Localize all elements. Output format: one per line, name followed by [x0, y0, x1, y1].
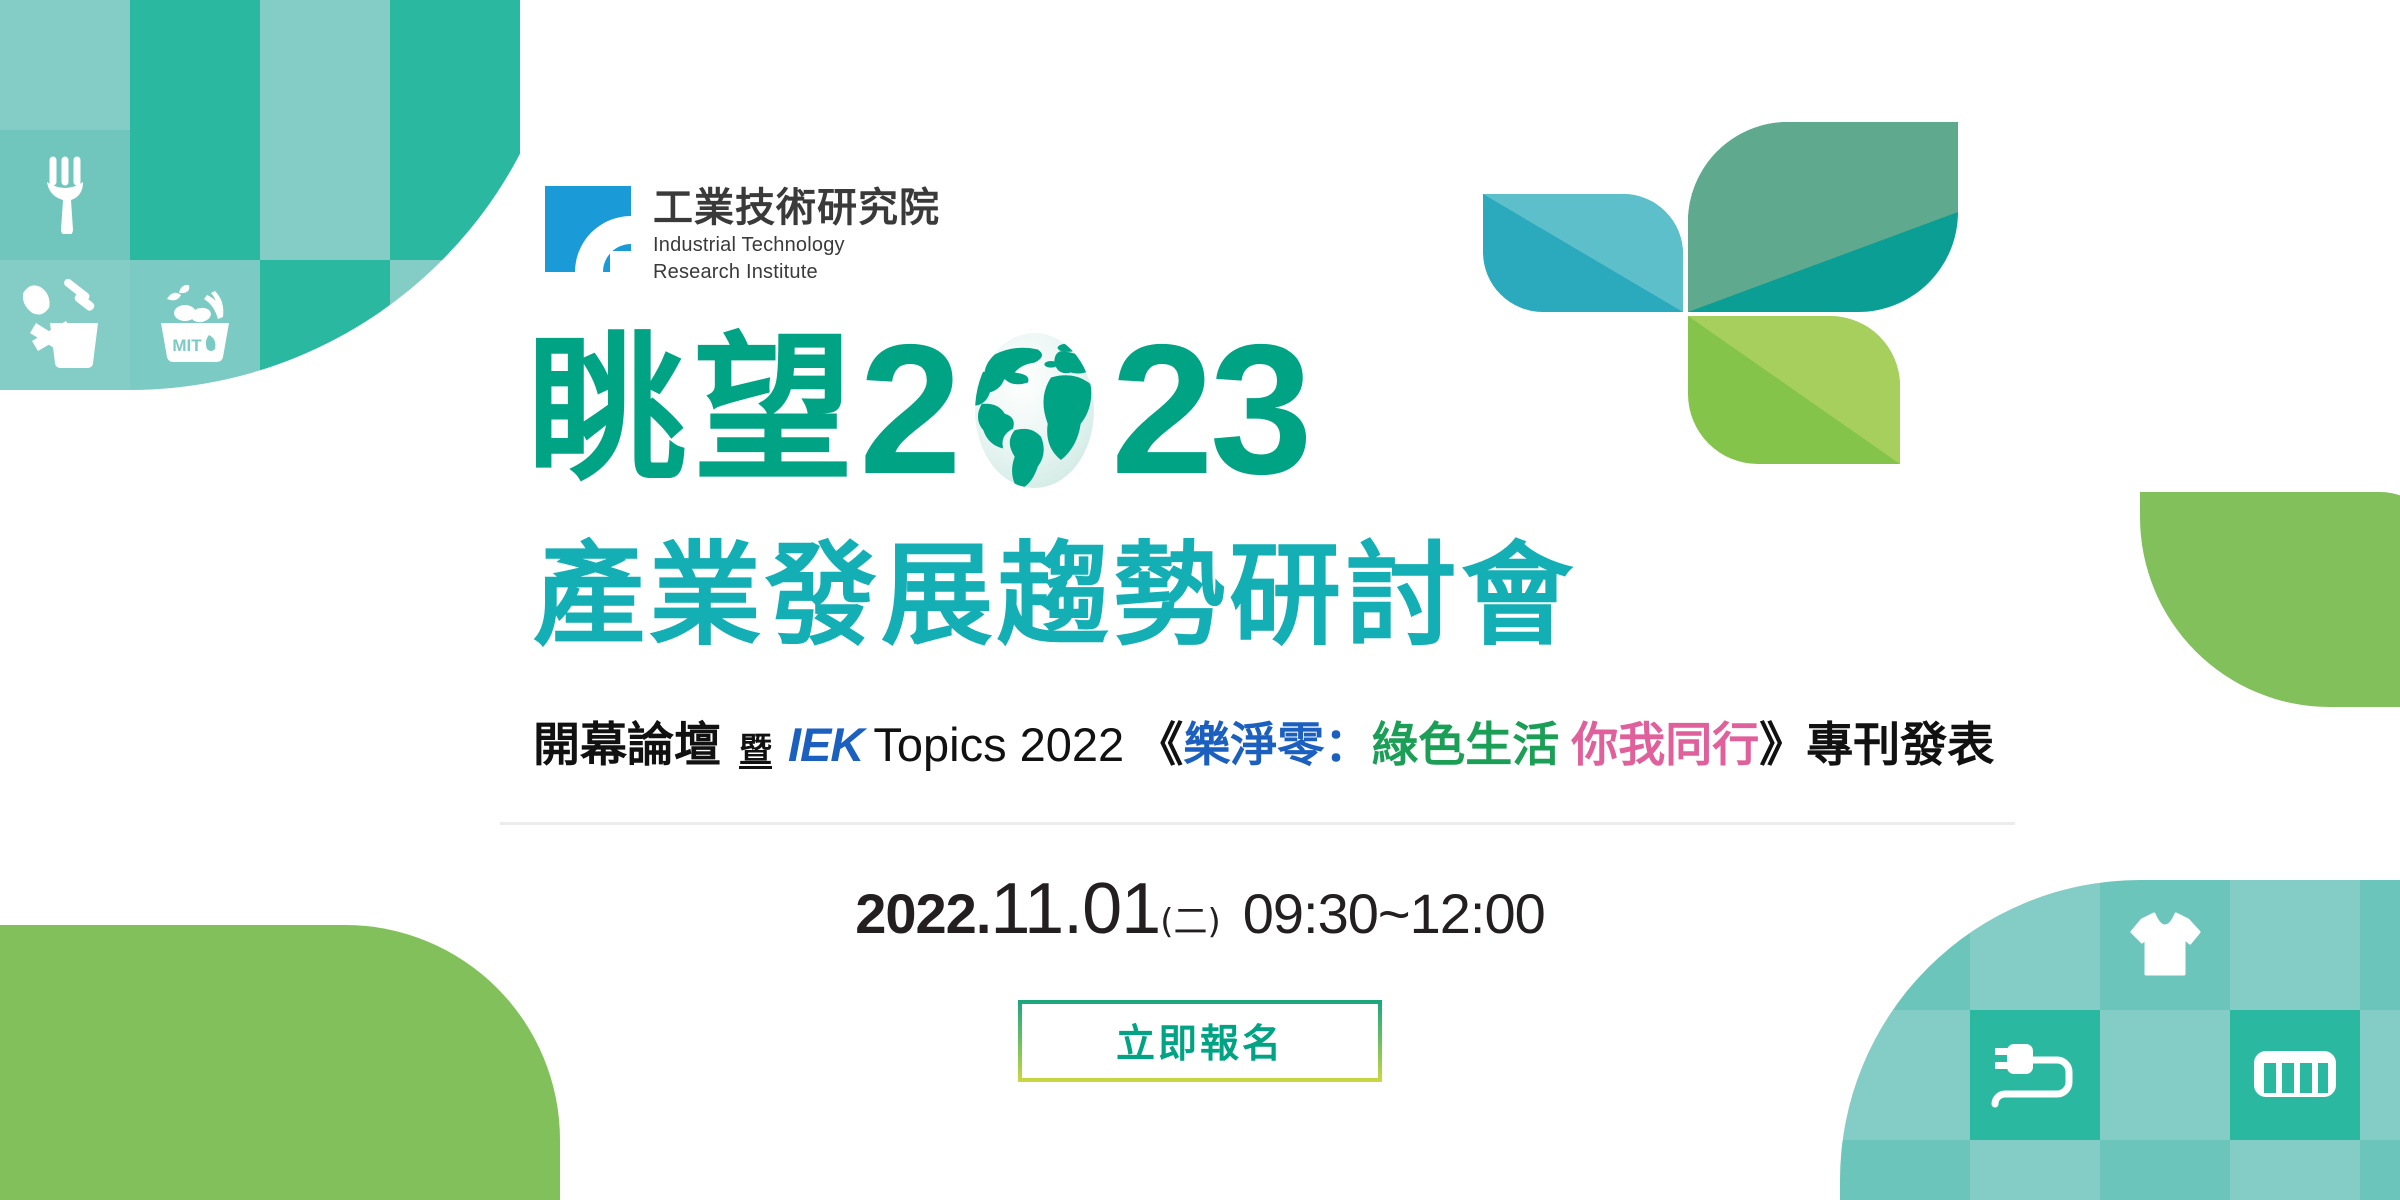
itri-name-cn: 工業技術研究院 [653, 188, 940, 230]
globe-icon [952, 328, 1117, 493]
cta-container: 立即報名 [0, 1000, 2400, 1082]
itri-logo-icon [545, 186, 631, 272]
itri-name-en-line2: Research Institute [653, 260, 940, 285]
headline-year-suffix: 23 [1111, 318, 1309, 503]
event-banner: MIT [0, 0, 2400, 1200]
register-button[interactable]: 立即報名 [1018, 1000, 1382, 1082]
subtitle-bracket-open: 《 [1136, 706, 1183, 775]
headline-cjk: 眺望 [527, 330, 859, 490]
subtitle-line: 開幕論壇 暨 IEK Topics 2022 《 樂淨零： 綠色生活 你我同行 … [533, 706, 1994, 775]
register-button-label: 立即報名 [1116, 1013, 1284, 1069]
register-button-inner[interactable]: 立即報名 [1022, 1004, 1378, 1078]
subtitle-iek: IEK [788, 717, 863, 772]
subtitle-forum: 開幕論壇 [533, 706, 721, 775]
subtitle-topics: Topics 2022 [873, 717, 1124, 772]
event-weekday: (二) [1160, 894, 1221, 943]
event-datetime: 2022. 11.01 (二) 09:30~12:00 [0, 868, 2400, 950]
event-time: 09:30~12:00 [1243, 881, 1545, 946]
subtitle-green-text: 綠色生活 [1371, 706, 1559, 775]
headline-year: 2 [859, 318, 1309, 503]
subtitle-bracket-close: 》 [1759, 706, 1806, 775]
subtitle-pink-text: 你我同行 [1571, 706, 1759, 775]
subtitle-tail: 專刊發表 [1806, 706, 1994, 775]
itri-logo: 工業技術研究院 Industrial Technology Research I… [545, 186, 940, 285]
banner-content: 工業技術研究院 Industrial Technology Research I… [0, 0, 2400, 1200]
event-month-day: 11.01 [990, 868, 1160, 950]
headline-year-prefix: 2 [859, 318, 958, 503]
subtitle-conj: 暨 [739, 723, 772, 771]
headline-line2: 產業發展趨勢研討會 [533, 540, 1577, 652]
itri-name-en-line1: Industrial Technology [653, 233, 940, 258]
event-year: 2022. [855, 881, 990, 946]
subtitle-blue-text: 樂淨零： [1183, 706, 1371, 775]
divider [500, 822, 2015, 825]
headline-line1: 眺望 2 [527, 325, 1309, 495]
